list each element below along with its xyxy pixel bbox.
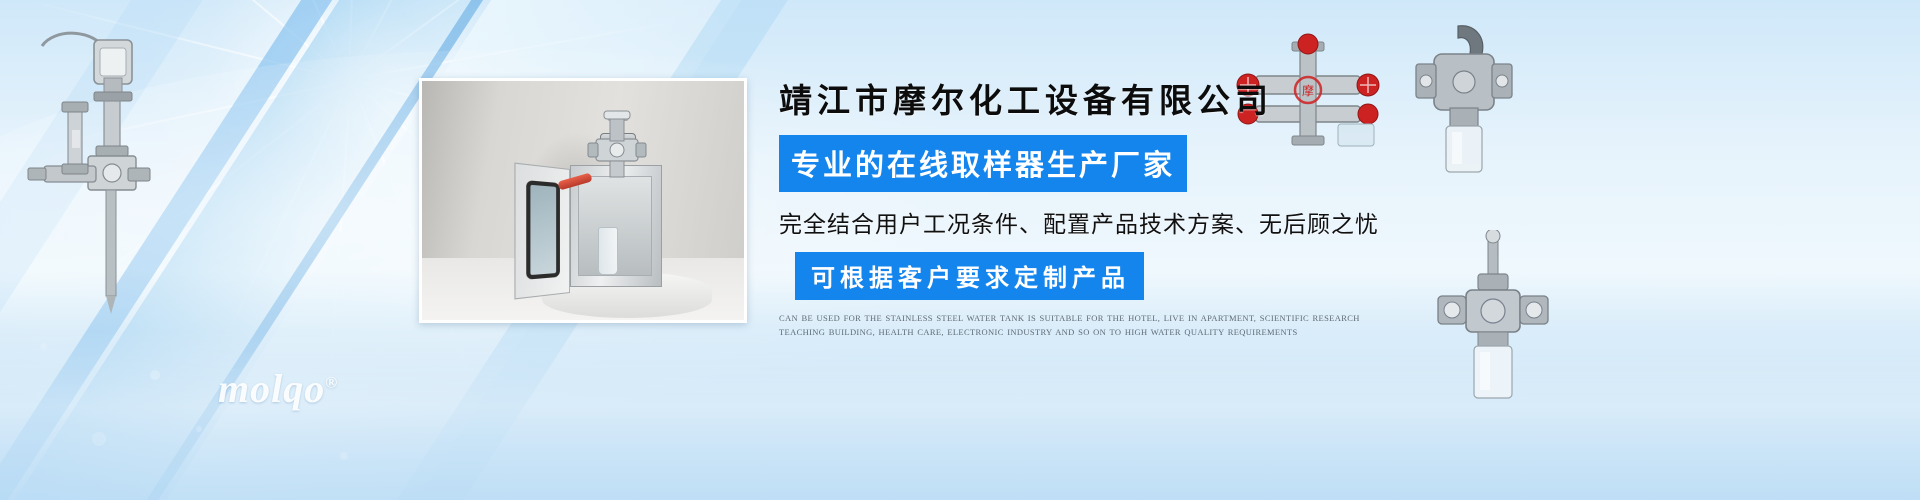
promo-banner: 摩 靖江市摩尔化工设备有限公司 专业的在线取样器生产厂家 完全结合用户工况条件、… [0,0,1920,500]
headline-badge: 专业的在线取样器生产厂家 [779,135,1187,192]
subheadline: 完全结合用户工况条件、配置产品技术方案、无后顾之忧 [779,205,1419,239]
english-description: CAN BE USED FOR THE STAINLESS STEEL WATE… [779,312,1379,339]
company-name: 靖江市摩尔化工设备有限公司 [779,74,1419,122]
brand-watermark: molqo® [218,365,338,412]
registered-mark-icon: ® [325,375,338,392]
right-equipment-bottom [1420,230,1570,420]
watermark-text: molqo [218,366,325,411]
right-equipment-side [1400,20,1530,210]
headline-text-block: 靖江市摩尔化工设备有限公司 专业的在线取样器生产厂家 完全结合用户工况条件、配置… [779,74,1419,339]
custom-order-badge: 可根据客户要求定制产品 [795,252,1144,300]
left-equipment-illustration [8,18,188,318]
wave-gradient [0,330,1920,500]
product-photo [419,78,747,323]
